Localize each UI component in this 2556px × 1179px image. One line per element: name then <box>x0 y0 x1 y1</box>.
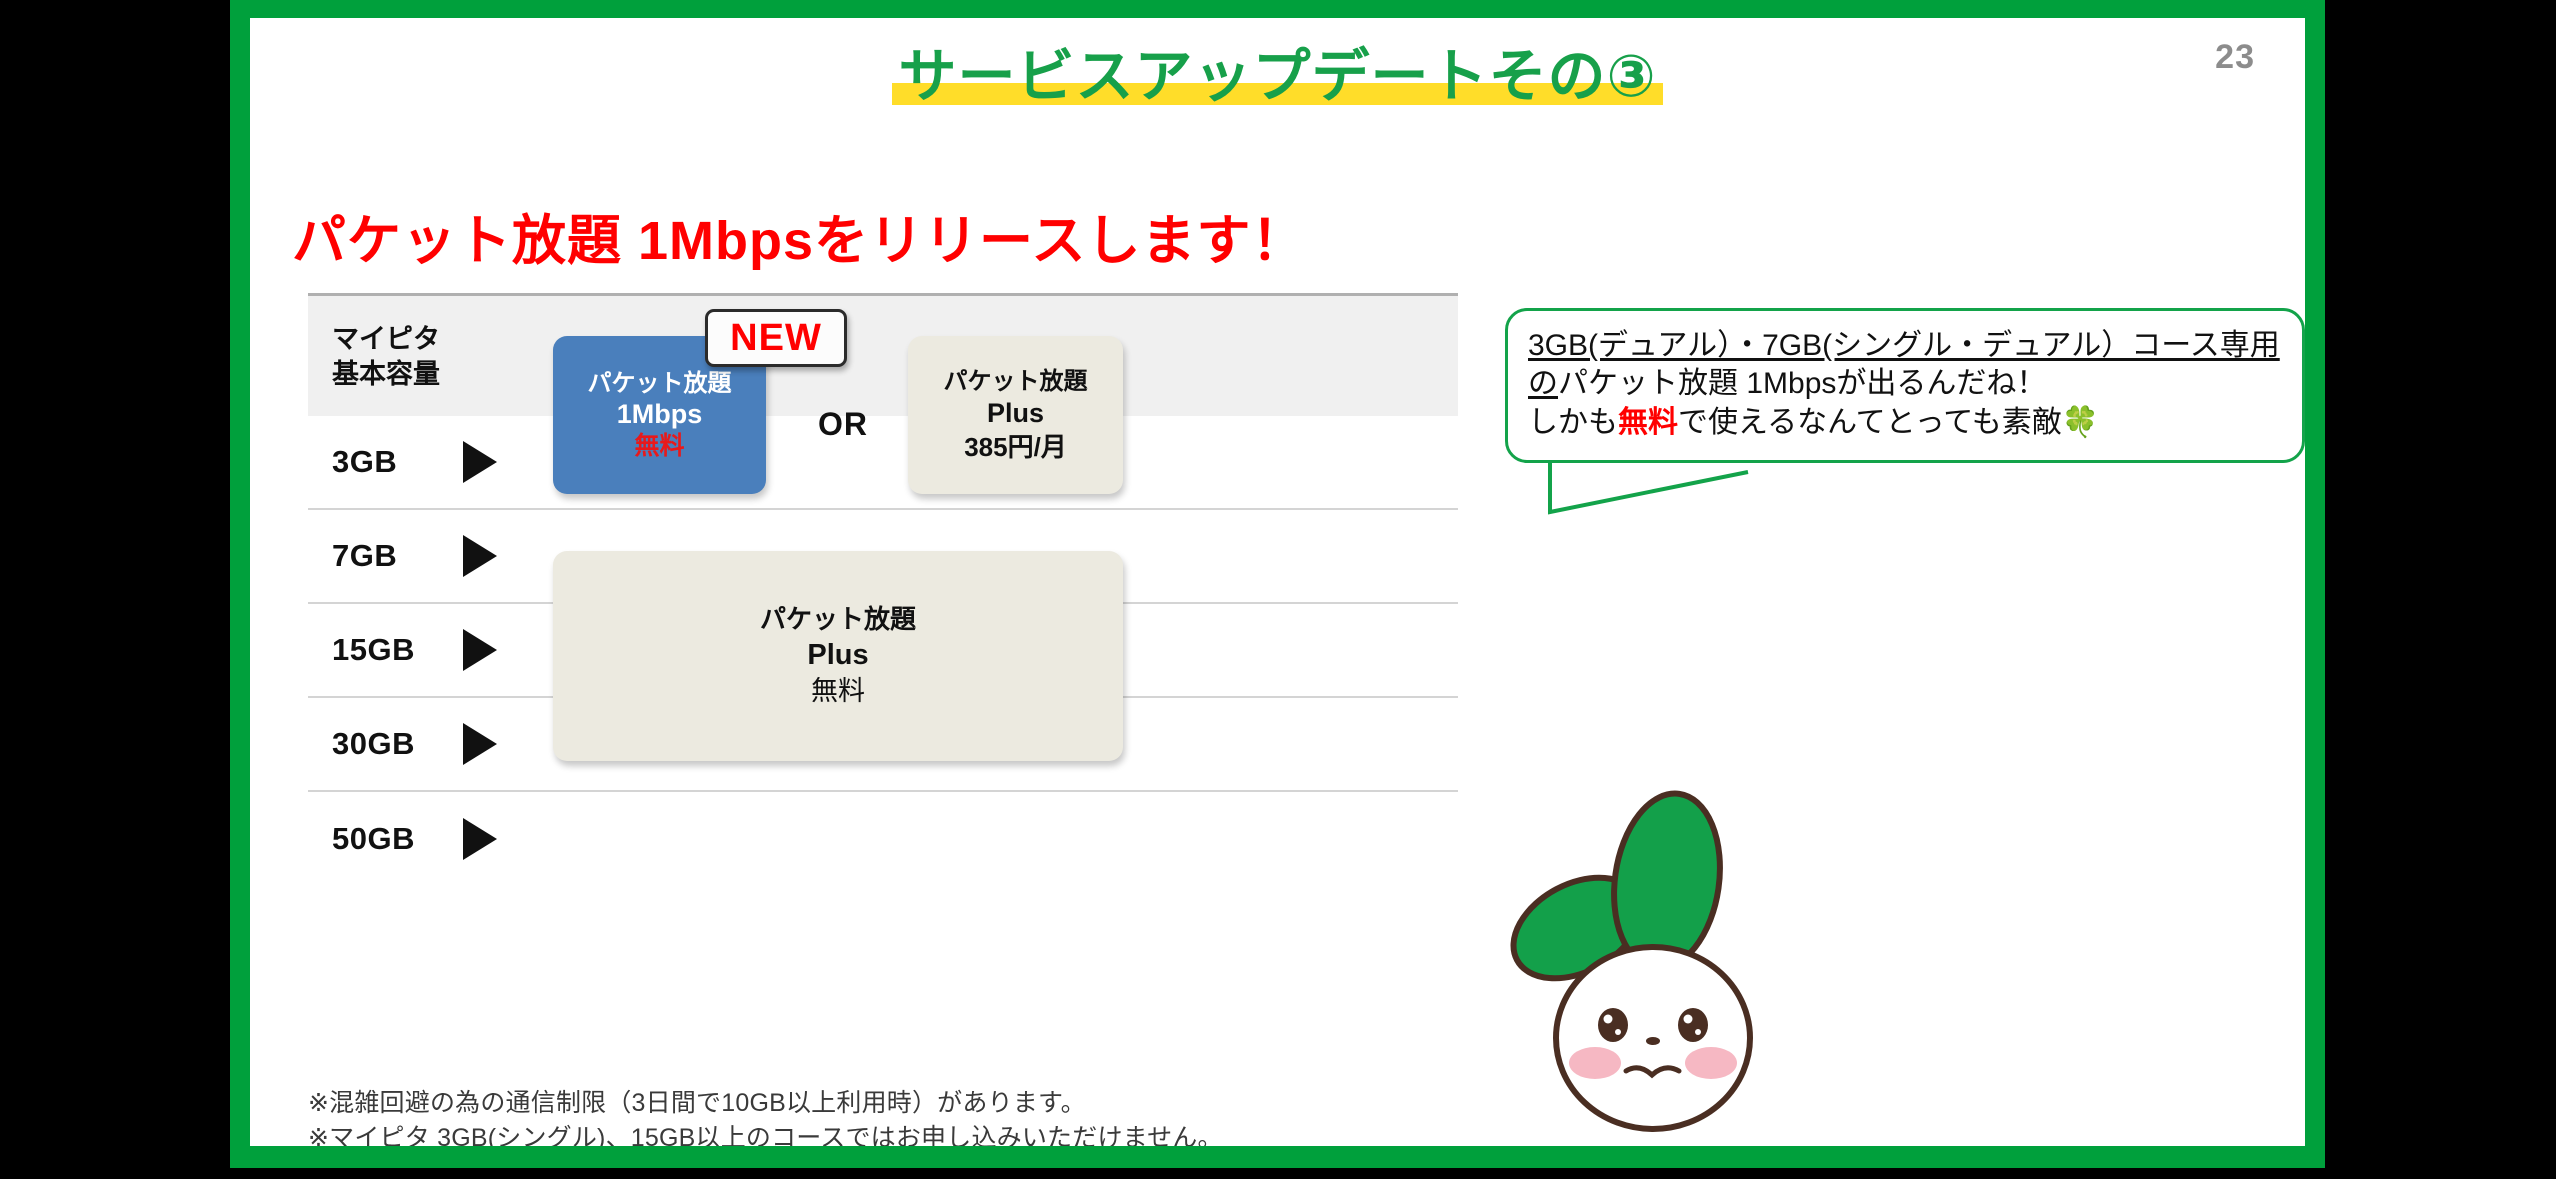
plan-box-packet-plus-free[interactable]: パケット放題 Plus 無料 <box>553 551 1123 761</box>
column-header-capacity: マイピタ 基本容量 <box>332 322 440 391</box>
bubble-line2-prefix: しかも <box>1528 406 1618 439</box>
screenshot-stage: 23 サービスアップデートその③ パケット放題 1Mbpsをリリースします！ マ… <box>0 0 2556 1179</box>
row-label-capacity: 30GB <box>332 726 415 762</box>
triangle-right-icon <box>463 441 497 483</box>
plan-box-price: 無料 <box>634 431 684 462</box>
row-label-capacity: 15GB <box>332 632 415 668</box>
plan-box-line2: 1Mbps <box>617 398 703 431</box>
bubble-rest-text: パケット放題 1Mbpsが出るんだね！ <box>1558 367 2046 400</box>
plan-box-line1: パケット放題 <box>760 603 916 637</box>
table-row: 50GB <box>308 792 1458 886</box>
plan-box-line2: Plus <box>807 637 868 675</box>
speech-bubble: 3GB(デュアル）・7GB(シングル・デュアル）コース専用のパケット放題 1Mb… <box>1505 308 2305 463</box>
footnote-item: ※混雑回避の為の通信制限（3日間で10GB以上利用時）があります。 <box>308 1086 1223 1121</box>
eye-left <box>1598 1008 1628 1042</box>
plan-box-packet-plus-paid[interactable]: パケット放題 Plus 385円/月 <box>908 336 1123 494</box>
cheek-left <box>1569 1047 1621 1079</box>
speech-bubble-text: 3GB(デュアル）・7GB(シングル・デュアル）コース専用のパケット放題 1Mb… <box>1528 327 2282 442</box>
footnotes: ※混雑回避の為の通信制限（3日間で10GB以上利用時）があります。 ※マイピタ … <box>308 1086 1223 1146</box>
triangle-right-icon <box>463 535 497 577</box>
slide-title-inner: サービスアップデートその③ <box>892 46 1662 109</box>
slide-title-wrap: サービスアップデートその③ <box>250 46 2305 109</box>
plan-box-price: 385円/月 <box>964 431 1067 464</box>
slide-canvas: 23 サービスアップデートその③ パケット放題 1Mbpsをリリースします！ マ… <box>250 18 2305 1146</box>
plan-box-line1: パケット放題 <box>944 367 1088 397</box>
row-label-capacity: 7GB <box>332 538 397 574</box>
cheek-right <box>1685 1047 1737 1079</box>
footnote-item: ※マイピタ 3GB(シングル)、15GB以上のコースではお申し込みいただけません… <box>308 1121 1223 1147</box>
row-label-capacity: 50GB <box>332 821 415 857</box>
rabbit-mascot <box>1495 753 1785 1146</box>
or-separator-label: OR <box>818 406 868 443</box>
page-title: サービスアップデートその③ <box>898 44 1656 109</box>
plan-box-line2: Plus <box>987 397 1044 431</box>
plan-box-price: 無料 <box>811 674 865 709</box>
speech-bubble-tail <box>1548 460 1778 520</box>
clover-icon: 🍀 <box>2062 406 2099 439</box>
nose <box>1646 1037 1660 1045</box>
slide-subtitle: パケット放題 1Mbpsをリリースします！ <box>292 196 1306 275</box>
slide-green-frame: 23 サービスアップデートその③ パケット放題 1Mbpsをリリースします！ マ… <box>230 0 2325 1168</box>
row-label-capacity: 3GB <box>332 444 397 480</box>
bubble-free-emphasis: 無料 <box>1618 406 1678 439</box>
eye-right <box>1678 1008 1708 1042</box>
table-header-row: マイピタ 基本容量 使い方イメージ <box>308 296 1458 416</box>
triangle-right-icon <box>463 723 497 765</box>
new-badge: NEW <box>705 309 847 367</box>
triangle-right-icon <box>463 818 497 860</box>
plan-box-line1: パケット放題 <box>588 369 732 398</box>
bubble-line2-suffix: で使えるなんてとっても素敵 <box>1678 406 2062 439</box>
capacity-table: マイピタ 基本容量 使い方イメージ 3GB 7GB 15GB <box>308 293 1458 1088</box>
triangle-right-icon <box>463 629 497 671</box>
table-row: 3GB <box>308 416 1458 510</box>
